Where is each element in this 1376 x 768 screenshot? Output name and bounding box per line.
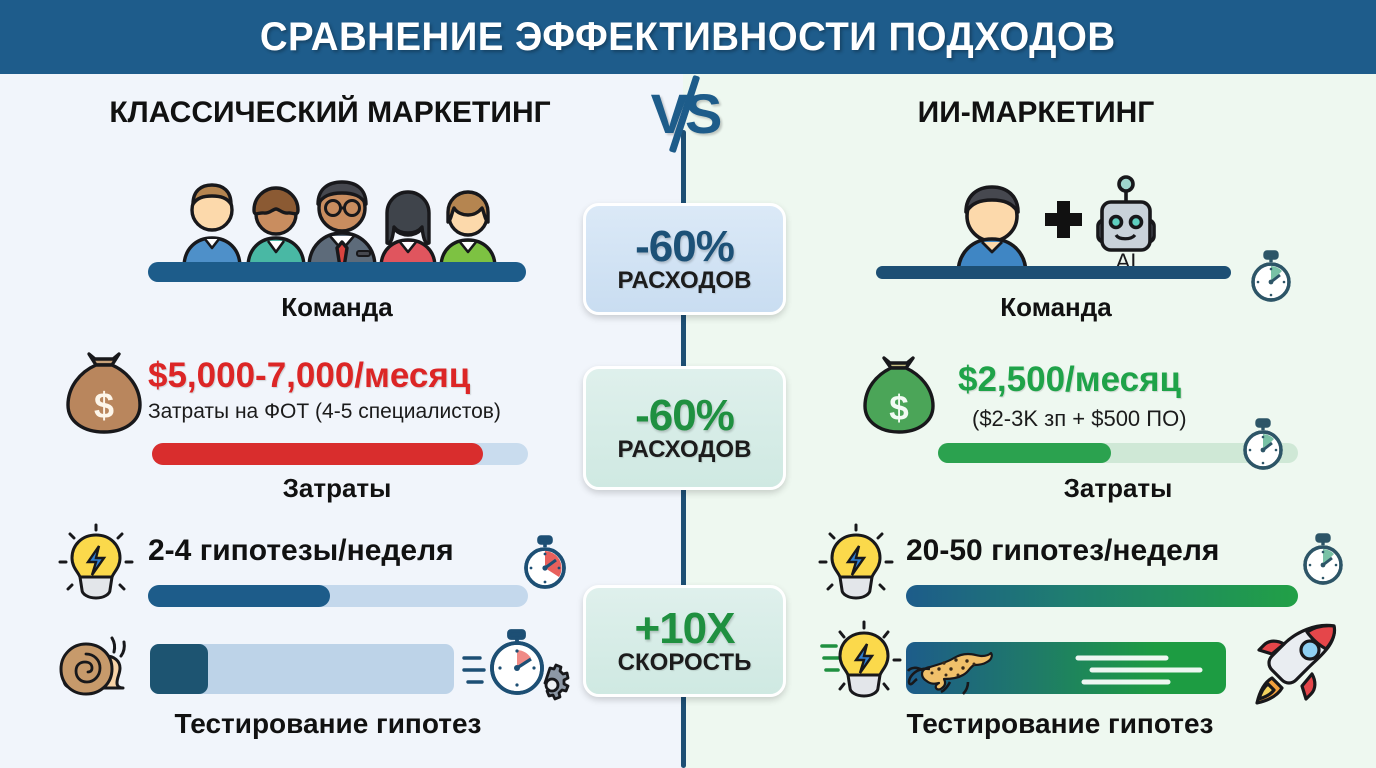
- human-ai-team-icon: AI: [950, 172, 1170, 274]
- right-testing-label: Тестирование гипотез: [850, 708, 1270, 740]
- lightbulb-icon-right: [812, 524, 900, 602]
- badge-speed-gain: +10X СКОРОСТЬ: [583, 585, 786, 697]
- right-hypotheses-bar-fill: [906, 585, 1298, 607]
- badge-2-caption: РАСХОДОВ: [618, 437, 752, 462]
- badge-3-caption: СКОРОСТЬ: [618, 650, 752, 675]
- left-hypotheses-bar-track: [148, 585, 528, 607]
- rocket-icon: [1248, 622, 1340, 710]
- fast-stopwatch-icon: [1246, 250, 1296, 304]
- left-testing-label: Тестирование гипотез: [118, 708, 538, 740]
- svg-text:$: $: [889, 389, 908, 428]
- left-hypotheses-bar-fill: [148, 585, 330, 607]
- left-hypotheses-value: 2-4 гипотезы/неделя: [148, 534, 454, 568]
- badge-cost-savings-1: -60% РАСХОДОВ: [583, 203, 786, 315]
- badge-cost-savings-2: -60% РАСХОДОВ: [583, 366, 786, 490]
- money-bag-icon-green: $: [855, 352, 943, 436]
- right-team-label: Команда: [876, 292, 1236, 323]
- lightbulb-icon-testing: [820, 618, 908, 704]
- left-team-label: Команда: [148, 292, 526, 323]
- left-testing-bar-track: [150, 644, 454, 694]
- left-cost-note: Затраты на ФОТ (4-5 специалистов): [148, 400, 501, 424]
- right-column-heading: ИИ-МАРКЕТИНГ: [706, 96, 1366, 130]
- page-title: СРАВНЕНИЕ ЭФФЕКТИВНОСТИ ПОДХОДОВ: [260, 15, 1116, 60]
- badge-1-value: -60%: [635, 225, 734, 268]
- left-cost-value: $5,000-7,000/месяц: [148, 356, 470, 396]
- infographic-stage: СРАВНЕНИЕ ЭФФЕКТИВНОСТИ ПОДХОДОВ VS КЛАС…: [0, 0, 1376, 768]
- right-hypotheses-value: 20-50 гипотез/неделя: [906, 534, 1219, 568]
- left-cost-bar-track: [152, 443, 528, 465]
- right-cost-bar-fill: [938, 443, 1111, 463]
- right-cost-note: ($2-3K зп + $500 ПО): [972, 406, 1187, 432]
- left-team-bar-fill: [148, 262, 526, 282]
- svg-text:$: $: [94, 385, 114, 426]
- badge-2-value: -60%: [635, 394, 734, 437]
- cheetah-icon: [906, 642, 1226, 694]
- left-testing-bar-fill: [150, 644, 208, 694]
- team-group-icon: [172, 172, 492, 267]
- right-cost-value: $2,500/месяц: [958, 360, 1181, 400]
- money-bag-icon: $: [58, 348, 150, 436]
- stopwatch-gear-icon: [462, 628, 568, 710]
- fast-stopwatch-icon-cost: [1238, 418, 1288, 472]
- badge-1-caption: РАСХОДОВ: [618, 268, 752, 293]
- slow-stopwatch-icon: [519, 535, 571, 591]
- right-team-bar-track: [876, 266, 1231, 279]
- left-cost-bar-fill: [152, 443, 483, 465]
- badge-3-value: +10X: [635, 607, 735, 650]
- right-testing-bar-track: [906, 642, 1226, 694]
- snail-icon: [52, 632, 144, 702]
- right-hypotheses-bar-track: [906, 585, 1298, 607]
- fast-stopwatch-icon-hypotheses: [1298, 533, 1348, 587]
- left-team-bar-track: [148, 262, 526, 282]
- lightbulb-icon: [52, 524, 140, 602]
- header-bar: СРАВНЕНИЕ ЭФФЕКТИВНОСТИ ПОДХОДОВ: [0, 0, 1376, 74]
- right-cost-label: Затраты: [938, 473, 1298, 504]
- left-column-heading: КЛАССИЧЕСКИЙ МАРКЕТИНГ: [0, 96, 660, 130]
- left-cost-label: Затраты: [148, 473, 526, 504]
- right-team-bar-fill: [876, 266, 1231, 279]
